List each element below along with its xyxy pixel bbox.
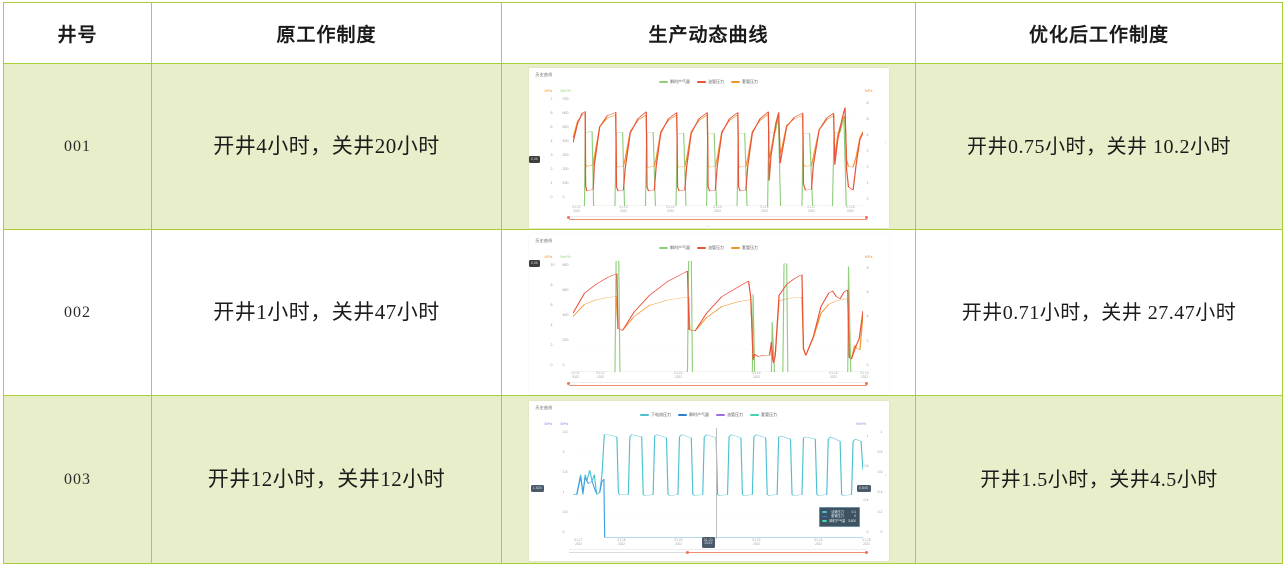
axis-tick: 2 — [867, 165, 869, 169]
axis-tick: 3 — [867, 149, 869, 153]
chart-title: 历史曲线 — [536, 238, 553, 244]
axis-tick: 1 — [867, 434, 869, 438]
chart-legend[interactable]: 下电流压力 瞬时产气量 油管压力 套管压力 — [529, 412, 889, 418]
axis-unit-left-mpa: MPa — [545, 422, 553, 426]
chart-tooltip: 油管压力0.1 套管压力0 瞬时产气量3,500 — [819, 507, 860, 527]
series-svg — [573, 95, 863, 206]
chart-001[interactable]: 历史曲线 瞬时产气量 油管压力 套管压力 MPa Nm³/h MPa 7 6 5… — [529, 68, 889, 228]
axis-unit-left-flow: Nm³/h — [561, 255, 571, 259]
x-axis-tick: 01-12 2022 — [572, 206, 580, 213]
axis-tick: 2.5 — [563, 430, 568, 434]
axis-unit-left-mpa: MPa — [545, 89, 553, 93]
axis-tick: 0 — [867, 197, 869, 201]
legend-label: 套管压力 — [742, 245, 758, 251]
cell-optimized-regime: 开井1.5小时，关井4.5小时 — [916, 396, 1283, 564]
range-slider-handle-right[interactable] — [865, 216, 868, 219]
axis-tick: 0 — [551, 363, 553, 367]
x-axis-tick: 01-11 2022 — [572, 372, 580, 379]
axis-unit-left-mpa: MPa — [545, 255, 553, 259]
axis-unit-right-flow: Nm³/h — [856, 422, 866, 426]
axis-unit-right-mpa: MPa — [865, 89, 873, 93]
table-row: 001 开井4小时，关井20小时 历史曲线 瞬时产气量 油管压力 套管压力 MP… — [4, 64, 1283, 230]
axis-tick: 600 — [563, 288, 569, 292]
axis-tick: 4 — [867, 133, 869, 137]
axis-tick: 0 — [551, 195, 553, 199]
plot-area — [573, 95, 863, 206]
axis-tick: 400 — [563, 139, 569, 143]
chart-legend[interactable]: 瞬时产气量 油管压力 套管压力 — [529, 79, 889, 85]
axis-tick: 1.5 — [563, 470, 568, 474]
x-axis-tick: 01-19 2022 — [860, 372, 868, 379]
x-axis-tick: 01-22 2022 — [752, 539, 760, 546]
chart-003[interactable]: 历史曲线 下电流压力 瞬时产气量 油管压力 套管压力 MPa MPa Nm³/h… — [529, 401, 889, 561]
chart-002[interactable]: 历史曲线 瞬时产气量 油管压力 套管压力 MPa Nm³/h MPa 10 8 … — [529, 234, 889, 394]
series-line-tubing — [573, 107, 863, 190]
column-header-well-no: 井号 — [4, 3, 152, 64]
series-line-casing — [573, 296, 863, 359]
axis-tick: 2 — [867, 339, 869, 343]
axis-unit-right-mpa: MPa — [865, 255, 873, 259]
axis-tick: 0.2 — [878, 510, 883, 514]
axis-value-tag-x: 01-21 2022 — [702, 537, 716, 548]
axis-tick: 0 — [881, 530, 883, 534]
collapse-chevron-icon[interactable]: ‹ — [885, 140, 887, 146]
axis-tick: 2 — [563, 450, 565, 454]
cell-well-no: 001 — [4, 64, 152, 230]
x-axis-tick: 01-14 2022 — [674, 372, 682, 379]
axis-tick: 4 — [551, 323, 553, 327]
axis-value-tag-left: 1.520 — [531, 485, 545, 492]
axis-value-tag-right: 0.640 — [857, 485, 871, 492]
range-slider[interactable] — [569, 382, 867, 388]
axis-tick: 5 — [867, 117, 869, 121]
legend-item[interactable]: 套管压力 — [750, 412, 777, 418]
axis-tick: 6 — [551, 303, 553, 307]
legend-label: 下电流压力 — [651, 412, 671, 418]
range-slider-track-selected[interactable] — [688, 552, 867, 554]
axis-tick: 200 — [563, 167, 569, 171]
main-table: 井号 原工作制度 生产动态曲线 优化后工作制度 001 开井4小时，关井20小时… — [3, 2, 1283, 564]
tooltip-row: 瞬时产气量3,500 — [822, 519, 856, 524]
cell-optimized-regime: 开井0.71小时，关井 27.47小时 — [916, 230, 1283, 396]
axis-value-tag: 0.00 — [529, 156, 541, 163]
chart-legend[interactable]: 瞬时产气量 油管压力 套管压力 — [529, 245, 889, 251]
x-axis-tick: 01-16 2022 — [760, 206, 768, 213]
axis-tick: 0 — [563, 530, 565, 534]
legend-item[interactable]: 油管压力 — [697, 245, 724, 251]
x-axis-tick: 01-24 2022 — [814, 539, 822, 546]
axis-tick: 700 — [563, 97, 569, 101]
legend-item[interactable]: 油管压力 — [716, 412, 743, 418]
axis-tick: 0.6 — [878, 470, 883, 474]
x-axis-tick: 01-13 2022 — [619, 206, 627, 213]
x-axis-tick: 01-16 2022 — [752, 372, 760, 379]
axis-tick: 2 — [551, 167, 553, 171]
axis-tick: 0 — [867, 530, 869, 534]
cell-original-regime: 开井12小时，关井12小时 — [152, 396, 502, 564]
legend-item[interactable]: 套管压力 — [731, 245, 758, 251]
chart-title: 历史曲线 — [536, 72, 553, 78]
axis-tick: 5 — [551, 125, 553, 129]
axis-unit-left-flow: Nm³/h — [561, 89, 571, 93]
range-slider-handle-right[interactable] — [865, 382, 868, 385]
cell-well-no: 003 — [4, 396, 152, 564]
x-axis-tick: 01-18 2022 — [617, 539, 625, 546]
axis-unit-left-secondary: MPa — [561, 422, 569, 426]
legend-label: 油管压力 — [727, 412, 743, 418]
axis-tick: 10 — [551, 263, 555, 267]
series-line-current — [573, 434, 863, 495]
series-svg — [573, 261, 863, 372]
x-axis-tick: 01-14 2022 — [666, 206, 674, 213]
legend-label: 套管压力 — [742, 79, 758, 85]
cell-production-curve: 历史曲线 下电流压力 瞬时产气量 油管压力 套管压力 MPa MPa Nm³/h… — [502, 396, 916, 564]
legend-item[interactable]: 油管压力 — [697, 79, 724, 85]
range-slider-track[interactable] — [569, 219, 867, 221]
axis-tick: 0 — [563, 363, 565, 367]
x-axis-tick: 01-12 2022 — [596, 372, 604, 379]
range-slider-track[interactable] — [569, 385, 867, 387]
axis-tick: 0.8 — [878, 450, 883, 454]
x-axis-tick: 01-18 2022 — [846, 206, 854, 213]
crosshair-line — [716, 428, 717, 539]
axis-tick: 0.4 — [864, 498, 869, 502]
column-header-optimized: 优化后工作制度 — [916, 3, 1283, 64]
legend-label: 套管压力 — [761, 412, 777, 418]
range-slider[interactable] — [569, 216, 867, 222]
legend-label: 油管压力 — [708, 79, 724, 85]
table-header-row: 井号 原工作制度 生产动态曲线 优化后工作制度 — [4, 3, 1283, 64]
plot-area — [573, 261, 863, 372]
legend-item[interactable]: 瞬时产气量 — [659, 245, 690, 251]
work-regime-optimization-table: 井号 原工作制度 生产动态曲线 优化后工作制度 001 开井4小时，关井20小时… — [0, 2, 1285, 562]
tooltip-value: 3,500 — [848, 519, 856, 524]
range-slider-handle-right[interactable] — [865, 551, 868, 554]
axis-tick: 400 — [563, 313, 569, 317]
legend-label: 瞬时产气量 — [670, 245, 690, 251]
legend-label: 油管压力 — [708, 245, 724, 251]
axis-tick: 300 — [563, 153, 569, 157]
axis-tick: 600 — [563, 111, 569, 115]
axis-tick: 1 — [551, 181, 553, 185]
axis-tick: 100 — [563, 181, 569, 185]
axis-tick: 0.4 — [878, 490, 883, 494]
axis-tick: 1 — [563, 490, 565, 494]
axis-tick: 200 — [563, 338, 569, 342]
axis-tick: 1 — [881, 430, 883, 434]
cell-production-curve: 历史曲线 瞬时产气量 油管压力 套管压力 MPa Nm³/h MPa 7 6 5… — [502, 64, 916, 230]
legend-item[interactable]: 瞬时产气量 — [659, 79, 690, 85]
range-slider[interactable] — [569, 549, 867, 555]
axis-tick: 7 — [551, 97, 553, 101]
axis-tick: 0.5 — [563, 510, 568, 514]
x-axis-tick: 01-25 2022 — [862, 539, 870, 546]
axis-tick: 3 — [551, 153, 553, 157]
cell-optimized-regime: 开井0.75小时，关井 10.2小时 — [916, 64, 1283, 230]
column-header-original: 原工作制度 — [152, 3, 502, 64]
legend-item[interactable]: 下电流压力 — [640, 412, 671, 418]
table-row: 003 开井12小时，关井12小时 历史曲线 下电流压力 瞬时产气量 油管压力 … — [4, 396, 1283, 564]
axis-tick: 0 — [563, 195, 565, 199]
axis-tick: 6 — [867, 101, 869, 105]
range-slider-handle-left[interactable] — [686, 551, 689, 554]
axis-tick: 4 — [551, 139, 553, 143]
axis-tick: 8 — [551, 283, 553, 287]
expand-chevron-up-icon[interactable]: ︿ — [706, 224, 711, 228]
cell-well-no: 002 — [4, 230, 152, 396]
axis-tick: 500 — [563, 125, 569, 129]
axis-tick: 2 — [551, 343, 553, 347]
collapse-chevron-icon[interactable]: ‹ — [885, 473, 887, 479]
axis-tick: 0.6 — [864, 464, 869, 468]
axis-tick: 6 — [551, 111, 553, 115]
x-axis-tick: 01-15 2022 — [713, 206, 721, 213]
axis-tick: 4 — [867, 314, 869, 318]
axis-tick: 8 — [867, 266, 869, 270]
chart-title: 历史曲线 — [536, 405, 553, 411]
axis-tick: 800 — [563, 263, 569, 267]
x-axis-tick: 01-17 2022 — [574, 539, 582, 546]
tooltip-label: 瞬时产气量 — [829, 519, 846, 524]
axis-tick: 6 — [867, 290, 869, 294]
x-axis-tick: 01-20 2022 — [674, 539, 682, 546]
column-header-curve: 生产动态曲线 — [502, 3, 916, 64]
x-axis-tick: 01-17 2022 — [807, 206, 815, 213]
axis-tick: 1 — [867, 181, 869, 185]
axis-tick: 0 — [867, 363, 869, 367]
legend-label: 瞬时产气量 — [689, 412, 709, 418]
cell-original-regime: 开井4小时，关井20小时 — [152, 64, 502, 230]
table-row: 002 开井1小时，关井47小时 历史曲线 瞬时产气量 油管压力 套管压力 MP… — [4, 230, 1283, 396]
legend-item[interactable]: 套管压力 — [731, 79, 758, 85]
x-axis-tick: 01-18 2022 — [829, 372, 837, 379]
cell-original-regime: 开井1小时，关井47小时 — [152, 230, 502, 396]
legend-item[interactable]: 瞬时产气量 — [678, 412, 709, 418]
cell-production-curve: 历史曲线 瞬时产气量 油管压力 套管压力 MPa Nm³/h MPa 10 8 … — [502, 230, 916, 396]
legend-label: 瞬时产气量 — [670, 79, 690, 85]
axis-value-tag: 0.00 — [529, 260, 541, 267]
